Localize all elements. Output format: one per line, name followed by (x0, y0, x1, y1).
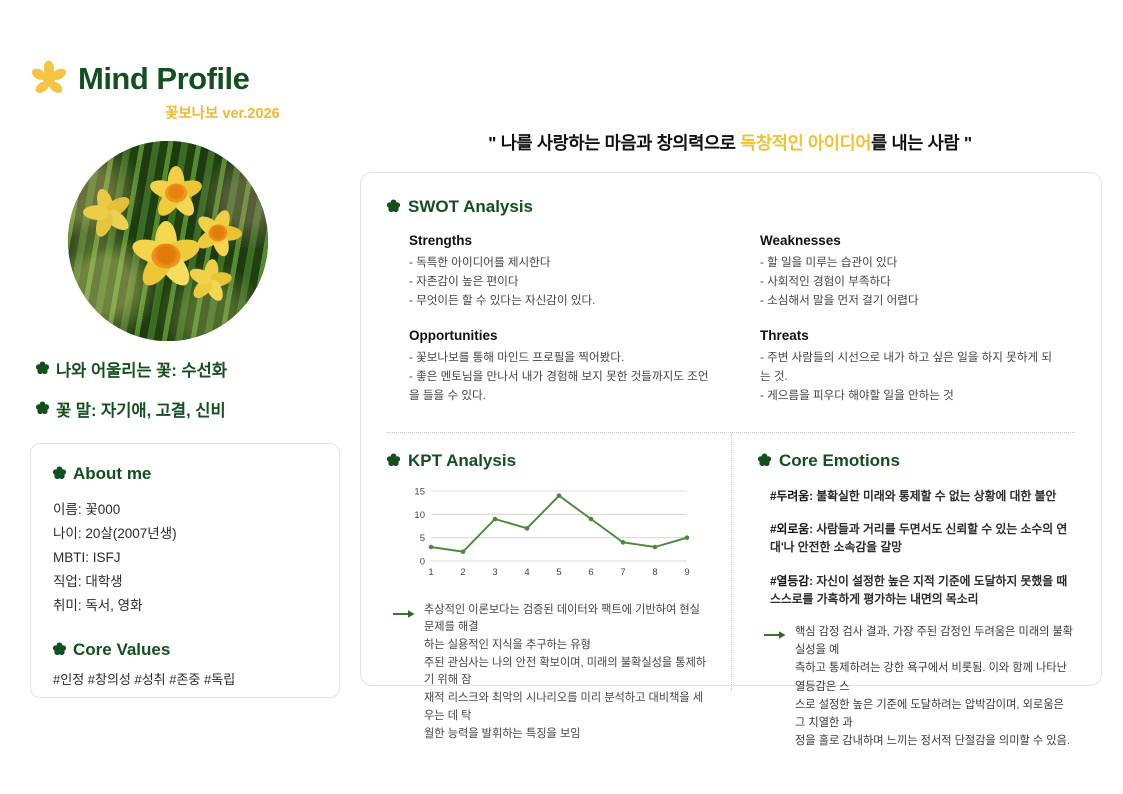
swot-line: - 꽃보나보를 통해 마인드 프로필을 찍어봤다. (409, 349, 716, 368)
emotions-summary-line: 스로 설정한 높은 기준에 도달하려는 압박감이며, 외로움은 그 치열한 과 (795, 696, 1075, 732)
kpt-section: KPT Analysis 051015123456789 추상적인 이론보다는 … (387, 433, 731, 691)
swot-title-weaknesses: Weaknesses (760, 233, 1075, 248)
about-me-heading: About me (73, 464, 151, 484)
flower-meaning-line: 꽃 말: 자기애, 고결, 신비 (30, 397, 340, 421)
headline-before: " 나를 사랑하는 마음과 창의력으로 (488, 133, 740, 153)
svg-text:8: 8 (652, 567, 657, 578)
main-panel: SWOT Analysis Strengths - 독특한 아이디어를 제시한다… (360, 172, 1102, 686)
emotions-summary-line: 측하고 통제하려는 강한 욕구에서 비롯됨. 이와 함께 나타난 열등감은 스 (795, 659, 1075, 695)
swot-line: - 게으름을 피우다 해야할 일을 안하는 것 (760, 387, 1075, 406)
kpt-summary-line: 하는 실용적인 지식을 추구하는 유형 (424, 637, 713, 655)
swot-column-right: Weaknesses - 할 일을 미루는 습관이 있다 - 사회적인 경험이 … (742, 233, 1075, 424)
emotion-tag: #열등감 (770, 574, 809, 588)
swot-line: 을 들을 수 있다. (409, 387, 716, 406)
swot-line: - 자존감이 높은 편이다 (409, 273, 716, 292)
flower-match-text: 나와 어울리는 꽃: 수선화 (56, 357, 227, 381)
swot-line: - 사회적인 경험이 부족하다 (760, 273, 1075, 292)
swot-line: - 할 일을 미루는 습관이 있다 (760, 254, 1075, 273)
swot-title-threats: Threats (760, 328, 1075, 343)
swot-title-opportunities: Opportunities (409, 328, 716, 343)
page-title: Mind Profile (78, 61, 249, 97)
flower-match-line: 나와 어울리는 꽃: 수선화 (30, 357, 340, 381)
kpt-summary-line: 월한 능력을 발휘하는 특징을 보임 (424, 726, 713, 744)
clover-bullet-icon (36, 360, 49, 379)
headline: " 나를 사랑하는 마음과 창의력으로 독창적인 아이디어를 내는 사람 " (360, 130, 1100, 155)
kpt-heading: KPT Analysis (408, 451, 516, 471)
swot-block-opportunities: Opportunities - 꽃보나보를 통해 마인드 프로필을 찍어봤다. … (409, 328, 716, 405)
kpt-summary-text: 추상적인 이론보다는 검증된 데이터와 팩트에 기반하여 현실 문제를 해결 하… (424, 602, 713, 744)
about-me-heading-row: About me (53, 464, 317, 484)
kpt-chart: 051015123456789 (405, 483, 713, 588)
emotion-text: : 사람들과 거리를 두면서도 신뢰할 수 있는 소수의 연대'나 안전한 소속… (770, 522, 1067, 554)
swot-title-strengths: Strengths (409, 233, 716, 248)
arrow-right-icon (764, 627, 786, 750)
kpt-summary-line: 재적 리스크와 최악의 시나리오를 미리 분석하고 대비책을 세우는 데 탁 (424, 690, 713, 725)
emotions-heading-row: Core Emotions (758, 451, 1075, 471)
swot-line: - 소심해서 말을 먼저 걸기 어렵다 (760, 292, 1075, 311)
svg-text:6: 6 (588, 567, 593, 578)
swot-line: - 독특한 아이디어를 제시한다 (409, 254, 716, 273)
core-values-heading: Core Values (73, 640, 170, 660)
arrow-right-icon (393, 606, 415, 744)
clover-bullet-icon (758, 451, 771, 471)
emotion-tag: #외로움 (770, 522, 809, 536)
kpt-summary-line: 주된 관심사는 나의 안전 확보이며, 미래의 불확실성을 통제하기 위해 잠 (424, 655, 713, 690)
core-values-heading-row: Core Values (53, 640, 317, 660)
kpt-summary: 추상적인 이론보다는 검증된 데이터와 팩트에 기반하여 현실 문제를 해결 하… (387, 602, 713, 744)
swot-column-left: Strengths - 독특한 아이디어를 제시한다 - 자존감이 높은 편이다… (409, 233, 742, 424)
clover-bullet-icon (53, 464, 66, 484)
swot-line: - 좋은 멘토님을 만나서 내가 경험해 보지 못한 것들까지도 조언 (409, 368, 716, 387)
kpt-summary-line: 추상적인 이론보다는 검증된 데이터와 팩트에 기반하여 현실 문제를 해결 (424, 602, 713, 637)
swot-block-strengths: Strengths - 독특한 아이디어를 제시한다 - 자존감이 높은 편이다… (409, 233, 716, 310)
swot-grid: Strengths - 독특한 아이디어를 제시한다 - 자존감이 높은 편이다… (387, 233, 1075, 424)
svg-text:2: 2 (460, 567, 465, 578)
svg-text:1: 1 (428, 567, 433, 578)
about-me-card: About me 이름: 꽃000 나이: 20살(2007년생) MBTI: … (30, 443, 340, 698)
headline-highlight: 독창적인 아이디어 (740, 133, 871, 153)
emotion-item: #열등감: 자신이 설정한 높은 지적 기준에 도달하지 못했을 때 스스로를 … (770, 572, 1075, 609)
about-row-age: 나이: 20살(2007년생) (53, 522, 317, 546)
swot-line: - 무엇이든 할 수 있다는 자신감이 있다. (409, 292, 716, 311)
headline-after: 를 내는 사람 " (871, 133, 972, 153)
svg-text:4: 4 (524, 567, 529, 578)
flower-icon (30, 60, 68, 98)
core-emotions-section: Core Emotions #두려움: 불확실한 미래와 통제할 수 없는 상황… (731, 433, 1075, 691)
flower-meaning-text: 꽃 말: 자기애, 고결, 신비 (56, 397, 226, 421)
svg-text:10: 10 (414, 510, 425, 521)
emotions-list: #두려움: 불확실한 미래와 통제할 수 없는 상황에 대한 불안 #외로움: … (758, 487, 1075, 608)
about-row-mbti: MBTI: ISFJ (53, 546, 317, 570)
emotion-text: : 불확실한 미래와 통제할 수 없는 상황에 대한 불안 (809, 489, 1056, 503)
brand-subtitle: 꽃보나보 ver.2026 (30, 102, 340, 123)
svg-text:3: 3 (492, 567, 497, 578)
mind-profile-page: Mind Profile 꽃보나보 ver.2026 (0, 0, 1123, 794)
swot-block-weaknesses: Weaknesses - 할 일을 미루는 습관이 있다 - 사회적인 경험이 … (760, 233, 1075, 310)
profile-photo (68, 141, 268, 341)
core-values-tags: #인정 #창의성 #성취 #존중 #독립 (53, 669, 317, 688)
swot-heading-row: SWOT Analysis (387, 197, 1075, 217)
brand-header: Mind Profile (30, 60, 340, 98)
emotion-item: #두려움: 불확실한 미래와 통제할 수 없는 상황에 대한 불안 (770, 487, 1075, 505)
kpt-line-chart: 051015123456789 (405, 483, 695, 588)
emotions-summary: 핵심 감정 검사 결과, 가장 주된 감정인 두려움은 미래의 불확실성을 예 … (758, 623, 1075, 750)
emotions-summary-text: 핵심 감정 검사 결과, 가장 주된 감정인 두려움은 미래의 불확실성을 예 … (795, 623, 1075, 750)
clover-bullet-icon (53, 640, 66, 660)
swot-line: 는 것. (760, 368, 1075, 387)
kpt-heading-row: KPT Analysis (387, 451, 713, 471)
emotions-summary-line: 정을 홀로 감내하며 느끼는 정서적 단절감을 의미할 수 있음. (795, 732, 1075, 750)
left-column: Mind Profile 꽃보나보 ver.2026 (30, 60, 340, 698)
about-row-hobby: 취미: 독서, 영화 (53, 594, 317, 618)
swot-heading: SWOT Analysis (408, 197, 533, 217)
svg-text:9: 9 (684, 567, 689, 578)
emotion-tag: #두려움 (770, 489, 809, 503)
svg-text:7: 7 (620, 567, 625, 578)
about-row-job: 직업: 대학생 (53, 570, 317, 594)
lower-sections: KPT Analysis 051015123456789 추상적인 이론보다는 … (387, 433, 1075, 691)
svg-text:5: 5 (420, 533, 425, 544)
clover-bullet-icon (387, 451, 400, 471)
emotions-heading: Core Emotions (779, 451, 900, 471)
clover-bullet-icon (387, 197, 400, 217)
about-me-rows: 이름: 꽃000 나이: 20살(2007년생) MBTI: ISFJ 직업: … (53, 498, 317, 618)
emotion-item: #외로움: 사람들과 거리를 두면서도 신뢰할 수 있는 소수의 연대'나 안전… (770, 520, 1075, 557)
emotions-summary-line: 핵심 감정 검사 결과, 가장 주된 감정인 두려움은 미래의 불확실성을 예 (795, 623, 1075, 659)
svg-text:0: 0 (420, 556, 425, 567)
clover-bullet-icon (36, 400, 49, 419)
emotion-text: : 자신이 설정한 높은 지적 기준에 도달하지 못했을 때 스스로를 가혹하게… (770, 574, 1067, 606)
swot-line: - 주변 사람들의 시선으로 내가 하고 싶은 일을 하지 못하게 되 (760, 349, 1075, 368)
about-row-name: 이름: 꽃000 (53, 498, 317, 522)
svg-text:5: 5 (556, 567, 561, 578)
swot-block-threats: Threats - 주변 사람들의 시선으로 내가 하고 싶은 일을 하지 못하… (760, 328, 1075, 405)
svg-text:15: 15 (414, 486, 425, 497)
